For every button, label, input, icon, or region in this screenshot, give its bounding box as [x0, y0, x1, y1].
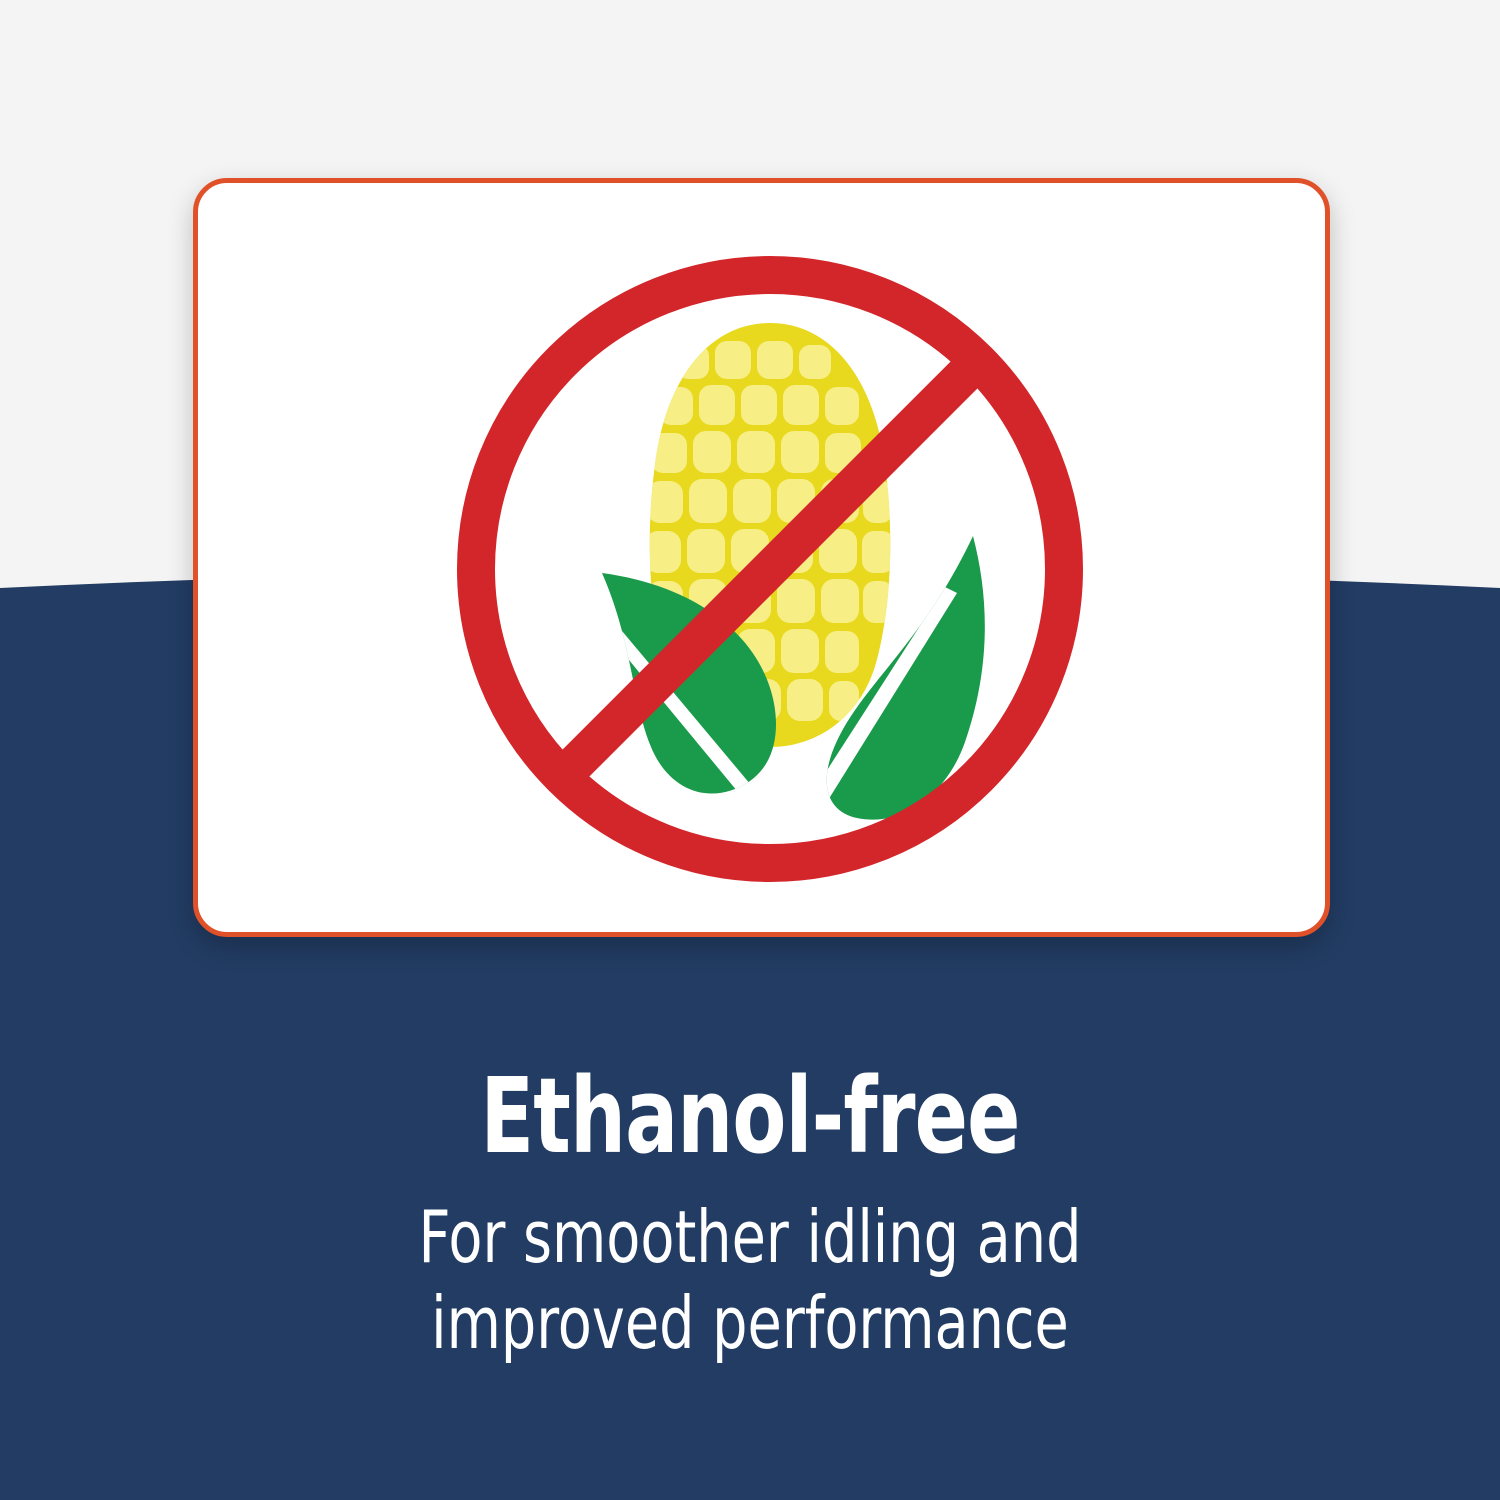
corn-cob-graphic [645, 323, 894, 747]
feature-card [193, 178, 1330, 937]
page-title: Ethanol-free [120, 1060, 1380, 1172]
no-ethanol-corn-icon [193, 178, 1330, 937]
prohibition-sign-graphic [476, 275, 1064, 863]
leaf-right-graphic [811, 536, 985, 820]
caption-block: Ethanol-free For smoother idling and imp… [0, 1060, 1500, 1366]
page-subtitle: For smoother idling and improved perform… [105, 1194, 1395, 1366]
leaf-left-graphic [602, 573, 776, 803]
